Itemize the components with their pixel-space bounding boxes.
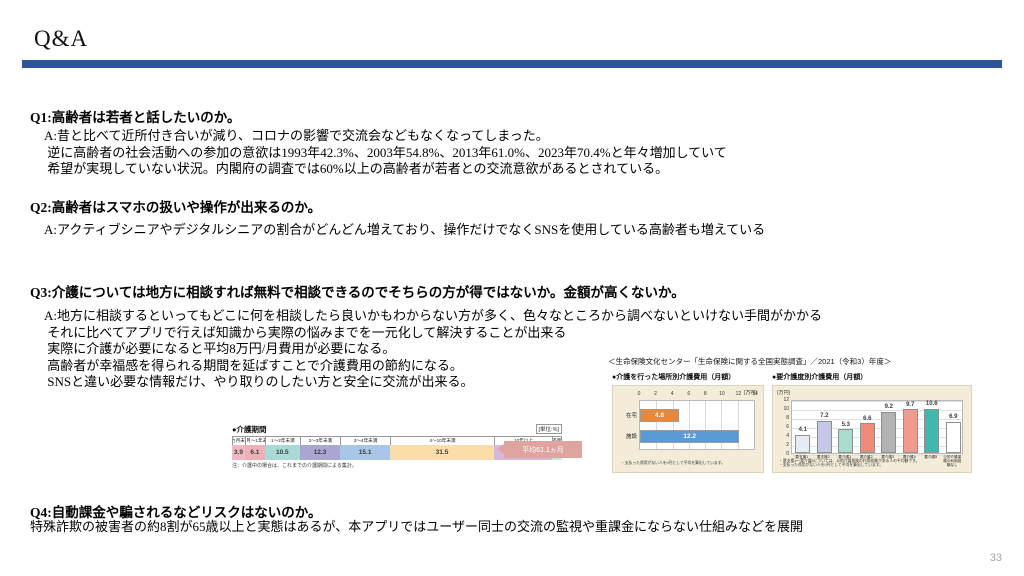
chart-level-bar-group: 7.2: [816, 401, 833, 453]
chart-level-bar-value: 10.6: [926, 401, 938, 408]
chart-place-plot-area: 4.812.2: [639, 400, 755, 450]
figure-care-period-title: ●介護期間: [232, 424, 562, 435]
care-period-average-callout: 平均61.1ヵ月: [504, 441, 582, 458]
chart-level-bar-group: 6.9: [945, 401, 962, 453]
chart-cost-by-place: (万円) 4.812.2 ・支払った費用がない人を0円として平均を算出しています…: [612, 385, 764, 473]
chart-cost-by-care-level: (万円) 4.17.25.36.69.29.710.66.9 ・要支援1～要介護…: [772, 385, 972, 473]
chart-level-y-tick: 2: [781, 442, 789, 448]
chart-place-subtitle: ●介護を行った場所別介護費用（月額）: [612, 372, 735, 382]
chart-level-bar-group: 9.7: [902, 401, 919, 453]
chart-level-bar-group: 4.1: [794, 401, 811, 453]
chart-place-x-tick: 6: [687, 391, 690, 397]
care-period-segment-label: 6カ月未満: [232, 436, 245, 445]
chart-level-plot-area: 4.17.25.36.69.29.710.66.9: [791, 400, 963, 454]
care-period-segment: 6.1: [245, 445, 265, 460]
care-period-segment-label: 4～10年未満: [390, 436, 494, 445]
care-period-segment: 31.5: [390, 445, 494, 460]
chart-place-x-tick: 12: [736, 391, 742, 397]
chart-level-bar-group: 5.3: [837, 401, 854, 453]
chart-level-bar-value: 4.1: [799, 427, 807, 434]
title-underline-rule: [22, 60, 1002, 68]
chart-place-x-tick: 0: [638, 391, 641, 397]
care-period-segment: 10.5: [265, 445, 300, 460]
chart-level-category-label: 要介護1: [835, 455, 855, 459]
chart-level-category-label: 公的介護保険の利用経験なし: [942, 455, 962, 467]
chart-level-subtitle: ●要介護度別介護費用（月額）: [772, 372, 867, 382]
chart-level-category-label: 要介護5: [921, 455, 941, 459]
chart-level-bar-value: 6.9: [949, 414, 957, 421]
chart-level-category-label: 要介護4: [899, 455, 919, 459]
chart-level-bar-value: 7.2: [820, 413, 828, 420]
chart-place-bar: 4.8: [640, 409, 679, 422]
chart-place-x-tick: 10: [719, 391, 725, 397]
chart-level-category-label: 要支援2: [813, 455, 833, 459]
chart-level-unit: (万円): [777, 389, 790, 396]
figure-care-period-footnote: 注：介護中の場合は、これまでの介護期間による集計。: [232, 462, 562, 469]
chart-level-category-label: 要支援1: [792, 455, 812, 459]
page-number: 33: [990, 552, 1002, 564]
chart-level-bar-group: 6.6: [859, 401, 876, 453]
care-period-segment: 3.9: [232, 445, 245, 460]
chart-place-bar-label: 在宅: [613, 411, 637, 419]
question-heading-q3: Q3:介護については地方に相談すれば無料で相談できるのでそちらの方が得ではないか…: [30, 281, 685, 301]
care-period-segment-label: 3～4年未満: [340, 436, 390, 445]
chart-level-bar: [860, 423, 875, 453]
chart-level-category-label: 要介護3: [878, 455, 898, 459]
chart-level-bar: [946, 422, 961, 453]
chart-level-y-tick: 8: [781, 415, 789, 421]
chart-level-y-tick: 4: [781, 433, 789, 439]
chart-level-y-tick: 6: [781, 424, 789, 430]
answer-text-q2: A:アクティブシニアやデジタルシニアの割合がどんどん増えており、操作だけでなくS…: [44, 222, 765, 239]
chart-level-bar: [838, 429, 853, 453]
care-period-segment-label: 1～2年未満: [265, 436, 300, 445]
chart-level-bar: [817, 421, 832, 453]
figure-source-citation: ＜生命保険文化センター「生命保険に関する全国実態調査」／2021（令和3）年度＞: [608, 356, 891, 367]
question-heading-q1: Q1:高齢者は若者と話したいのか。: [30, 106, 240, 126]
chart-level-bar: [795, 435, 810, 453]
answer-text-q4: 特殊詐欺の被害者の約8割が65歳以上と実態はあるが、本アプリではユーザー同士の交…: [30, 519, 803, 536]
chart-level-bar-value: 9.2: [885, 404, 893, 411]
chart-level-y-tick: 10: [781, 406, 789, 412]
chart-level-bar: [881, 412, 896, 453]
chart-level-bar-value: 5.3: [842, 422, 850, 429]
chart-level-bar: [903, 409, 918, 453]
figure-care-period: ●介護期間 [単位:%] 6カ月未満6カ月～1年未満1～2年未満2～3年未満3～…: [232, 424, 562, 469]
care-period-segment-label: 2～3年未満: [300, 436, 341, 445]
chart-level-bar: [924, 409, 939, 454]
question-heading-q4: Q4:自動課金や騙されるなどリスクはないのか。: [30, 501, 321, 521]
chart-place-note: ・支払った費用がない人を0円として平均を算出しています。: [621, 461, 761, 466]
chart-place-x-tick: 2: [654, 391, 657, 397]
chart-level-bar-group: 10.6: [923, 401, 940, 453]
answer-text-q1: A:昔と比べて近所付き合いが減り、コロナの影響で交流会などもなくなってしまった。…: [44, 128, 727, 178]
chart-level-bar-value: 6.6: [863, 416, 871, 423]
chart-place-bar: 12.2: [640, 430, 739, 443]
chart-level-note: ・要支援1～要介護5については、公的介護保険の利用経験がある人の平均額です。 ・…: [779, 459, 967, 468]
chart-level-bar-group: 9.2: [880, 401, 897, 453]
chart-level-bar-value: 9.7: [906, 402, 914, 409]
page-title: Q&A: [34, 26, 88, 52]
care-period-segment: 12.3: [300, 445, 341, 460]
chart-level-category-label: 要介護2: [856, 455, 876, 459]
care-period-segment: 15.1: [340, 445, 390, 460]
care-period-segment-label: 6カ月～1年未満: [245, 436, 265, 445]
chart-level-y-tick: 0: [781, 451, 789, 457]
chart-place-bar-label: 施設: [613, 432, 637, 440]
figure-care-period-unit: [単位:%]: [536, 424, 562, 434]
chart-place-x-tick: 8: [704, 391, 707, 397]
question-heading-q2: Q2:高齢者はスマホの扱いや操作が出来るのか。: [30, 196, 321, 216]
chart-place-x-tick: 14: [752, 391, 758, 397]
chart-level-y-tick: 12: [781, 397, 789, 403]
chart-place-x-tick: 4: [671, 391, 674, 397]
